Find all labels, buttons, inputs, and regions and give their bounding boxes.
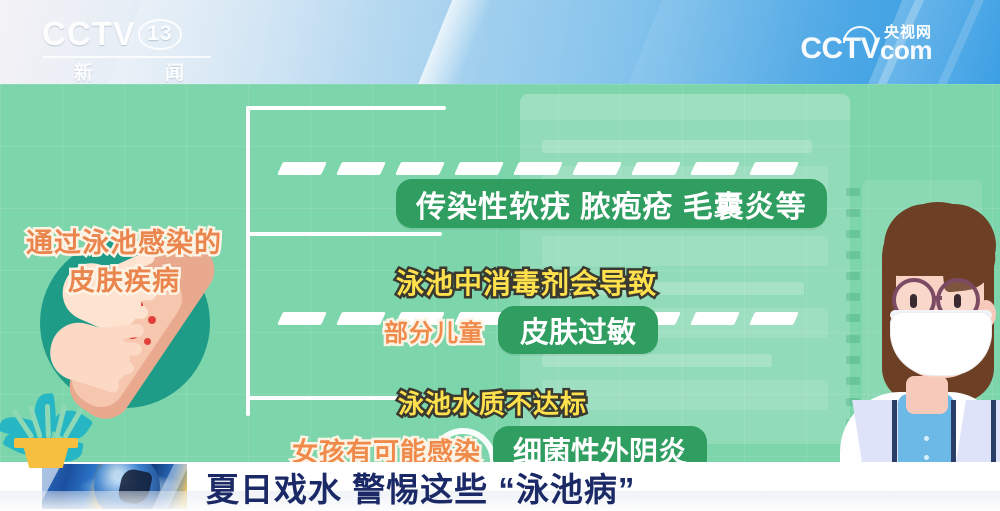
bracket-branch bbox=[246, 106, 446, 110]
cctv-com-logo: CCTV com 央视网 bbox=[800, 24, 932, 64]
subject-text-1: 部分儿童 bbox=[384, 313, 484, 348]
channel-number-badge: 13 bbox=[138, 19, 182, 50]
cctv-com-chinese-name: 央视网 bbox=[884, 21, 932, 42]
infographic-stage: 通过泳池感染的 皮肤疾病 传染性软疣 脓疱疮 毛囊炎等 泳池中消毒剂会导致 部分… bbox=[0, 84, 1000, 462]
disease-badge-2: 皮肤过敏 bbox=[498, 306, 658, 354]
rash-spot bbox=[144, 338, 151, 345]
broadcast-screenshot: CCTV 13 新 闻 CCTV com 央视网 bbox=[0, 0, 1000, 511]
eye-left bbox=[910, 294, 917, 308]
news-headline: 夏日戏水 警惕这些 “泳池病” bbox=[206, 462, 806, 511]
section-lead-title: 通过泳池感染的 皮肤疾病 bbox=[0, 224, 248, 300]
fact-row-3-cause: 泳池水质不达标 bbox=[398, 384, 587, 421]
rash-spot bbox=[148, 316, 156, 324]
cctv-13-logo: CCTV 13 新 闻 bbox=[42, 16, 212, 74]
eye-right bbox=[954, 294, 961, 308]
lead-title-line-2: 皮肤疾病 bbox=[0, 262, 248, 300]
bracket-dashed-branch bbox=[280, 162, 796, 175]
cause-text-2: 泳池水质不达标 bbox=[398, 384, 587, 421]
female-doctor-illustration bbox=[838, 204, 1000, 462]
fact-row-2-result: 部分儿童 皮肤过敏 bbox=[384, 306, 658, 354]
flowerpot-decoration bbox=[14, 432, 78, 466]
subject-text-2: 女孩有可能感染 bbox=[292, 432, 481, 463]
plant-leaves bbox=[30, 402, 66, 438]
cause-text-1: 泳池中消毒剂会导致 bbox=[396, 262, 657, 302]
cctv-com-arc-icon bbox=[843, 26, 877, 43]
bracket-branch bbox=[246, 232, 442, 236]
channel-subtitle-char-2: 闻 bbox=[165, 58, 184, 84]
header-streak-decoration bbox=[392, 0, 509, 84]
flowerpot-body bbox=[20, 446, 72, 468]
stethoscope-tube-left bbox=[892, 400, 956, 462]
disease-badge-3: 细菌性外阴炎 bbox=[493, 426, 707, 462]
stethoscope-tube-right bbox=[950, 400, 996, 462]
fact-row-1: 传染性软疣 脓疱疮 毛囊炎等 bbox=[396, 179, 827, 228]
lead-title-line-1: 通过泳池感染的 bbox=[0, 224, 248, 262]
channel-subtitle-char-1: 新 bbox=[74, 58, 93, 84]
disease-badge-1: 传染性软疣 脓疱疮 毛囊炎等 bbox=[396, 179, 827, 228]
cctv-wordmark: CCTV bbox=[42, 16, 136, 52]
fact-row-3-result: 女孩有可能感染 细菌性外阴炎 bbox=[292, 426, 707, 462]
fact-row-2-cause: 泳池中消毒剂会导致 bbox=[396, 262, 657, 302]
connector-bracket bbox=[246, 106, 716, 416]
eyeglass-bridge bbox=[934, 296, 942, 300]
channel-header-bar: CCTV 13 新 闻 CCTV com 央视网 bbox=[0, 0, 1000, 84]
